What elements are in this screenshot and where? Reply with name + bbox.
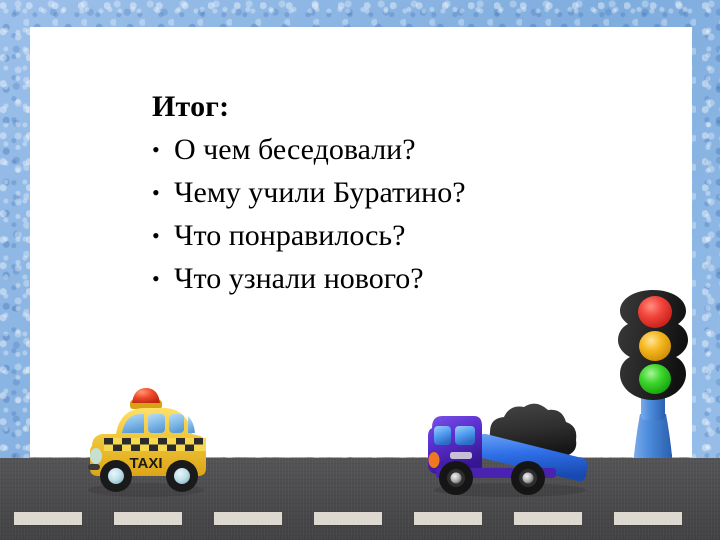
traffic-light-green-lamp (639, 364, 671, 394)
taxi-dome-light (130, 388, 162, 409)
list-item-label: О чем беседовали? (174, 133, 416, 166)
road-lane-markings (0, 512, 720, 528)
truck-wheel-rear (511, 461, 545, 495)
truck-indicator-light-icon (429, 452, 440, 468)
taxi-headlight-icon (90, 448, 102, 464)
list-item: •Что узнали нового? (152, 257, 632, 300)
text-block: Итог: •О чем беседовали? •Чему учили Бур… (152, 86, 632, 300)
traffic-light-illustration (612, 286, 694, 476)
list-item-label: Что понравилось? (174, 219, 405, 252)
taxi-wheel-front (100, 460, 132, 492)
lane-dash (214, 512, 282, 525)
lane-dash (14, 512, 82, 525)
taxi-checker-stripe (104, 438, 206, 451)
page-title: Итог: (152, 86, 632, 128)
bullet-icon: • (152, 214, 174, 257)
taxi-label: TAXI (129, 455, 162, 472)
list-item: •Что понравилось? (152, 214, 632, 257)
truck-window-right (455, 426, 475, 445)
list-item: •Чему учили Буратино? (152, 171, 632, 214)
bullet-icon: • (152, 128, 174, 171)
dump-truck-illustration (424, 388, 596, 503)
lane-dash (514, 512, 582, 525)
truck-wheel-front (439, 461, 473, 495)
list-item-label: Что узнали нового? (174, 262, 424, 295)
bullet-icon: • (152, 171, 174, 214)
taxi-illustration: TAXI (82, 386, 210, 504)
taxi-wheel-rear (166, 460, 198, 492)
traffic-light-pole (632, 394, 674, 468)
traffic-light-yellow-lamp (639, 331, 671, 361)
lane-dash (114, 512, 182, 525)
traffic-light-red-lamp (638, 296, 672, 328)
list-item: •О чем беседовали? (152, 128, 632, 171)
lane-dash (414, 512, 482, 525)
lane-dash (314, 512, 382, 525)
lane-dash (614, 512, 682, 525)
slide-canvas: Итог: •О чем беседовали? •Чему учили Бур… (0, 0, 720, 540)
bullet-icon: • (152, 257, 174, 300)
truck-window-left (434, 426, 451, 445)
list-item-label: Чему учили Буратино? (174, 176, 466, 209)
